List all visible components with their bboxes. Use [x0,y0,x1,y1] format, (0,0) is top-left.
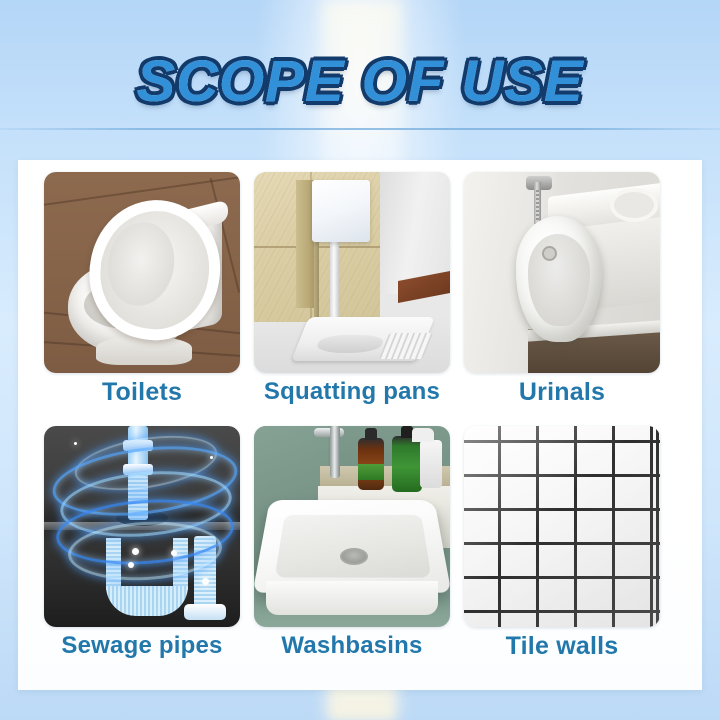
scope-item-label: Urinals [464,378,660,407]
scope-item-label: Washbasins [254,632,450,660]
scope-item-sewage-pipes[interactable]: Sewage pipes [44,426,240,672]
squatting-pan-photo [254,172,450,373]
urinal-photo [464,172,660,373]
scope-item-label: Squatting pans [254,378,450,406]
washbasin-photo [254,426,450,627]
scope-item-tile-walls[interactable]: Tile walls [464,426,660,672]
page-title: SCOPE OF USE [136,52,583,113]
tile-wall-photo [464,426,660,627]
scope-item-label: Toilets [44,378,240,407]
scope-item-squatting-pans[interactable]: Squatting pans [254,172,450,418]
scope-item-urinals[interactable]: Urinals [464,172,660,418]
title-divider [0,128,720,130]
scope-item-label: Sewage pipes [44,632,240,660]
sewage-pipe-photo [44,426,240,627]
page-title-wrap: SCOPE OF USE [0,52,720,113]
toilet-photo [44,172,240,373]
scope-grid: Toilets S [44,172,676,680]
scope-item-washbasins[interactable]: Washbasins [254,426,450,672]
scope-of-use-infographic: SCOPE OF USE Toilets [0,0,720,720]
scope-card-panel: Toilets S [18,160,702,690]
scope-item-toilets[interactable]: Toilets [44,172,240,418]
scope-item-label: Tile walls [464,632,660,661]
